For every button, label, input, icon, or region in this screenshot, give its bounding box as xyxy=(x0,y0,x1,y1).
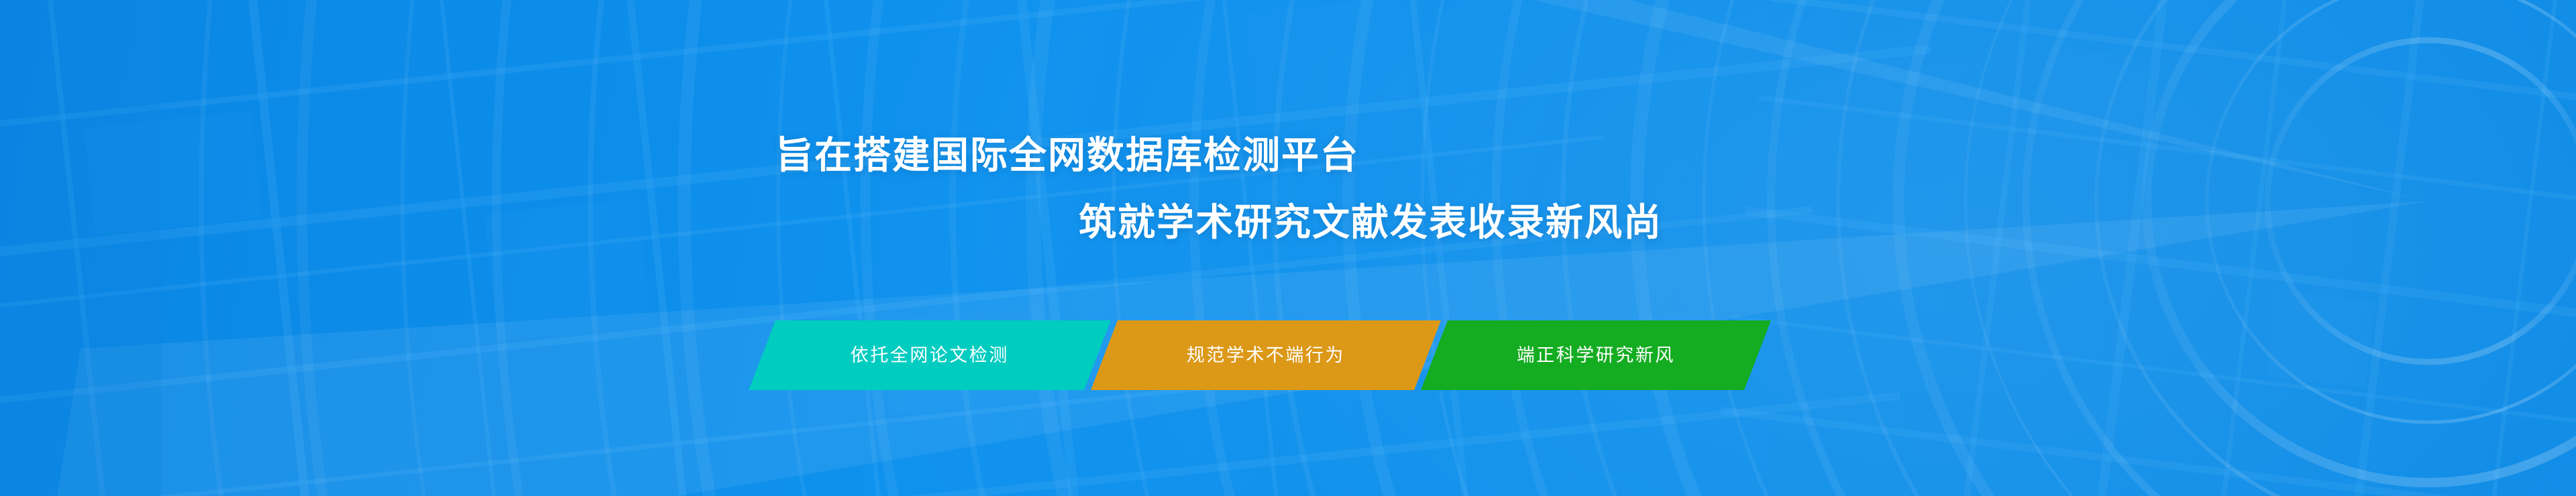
feature-tag-1[interactable]: 依托全网论文检测 xyxy=(749,320,1111,390)
headline-line-2: 筑就学术研究文献发表收录新风尚 xyxy=(1079,198,2576,247)
headline-block: 旨在搭建国际全网数据库检测平台 筑就学术研究文献发表收录新风尚 xyxy=(0,131,2576,247)
headline-line-1: 旨在搭建国际全网数据库检测平台 xyxy=(775,131,2576,180)
feature-tag-1-label: 依托全网论文检测 xyxy=(851,347,1009,365)
promo-banner: 旨在搭建国际全网数据库检测平台 筑就学术研究文献发表收录新风尚 依托全网论文检测… xyxy=(0,0,2576,496)
feature-tag-2[interactable]: 规范学术不端行为 xyxy=(1091,320,1441,390)
background-arc-pattern xyxy=(0,0,2576,496)
background-gradient xyxy=(0,0,2576,496)
feature-tag-2-label: 规范学术不端行为 xyxy=(1187,347,1345,365)
feature-tag-strip: 依托全网论文检测 规范学术不端行为 端正科学研究新风 xyxy=(762,320,1758,390)
feature-tag-3-label: 端正科学研究新风 xyxy=(1517,347,1675,365)
feature-tag-3[interactable]: 端正科学研究新风 xyxy=(1421,320,1771,390)
